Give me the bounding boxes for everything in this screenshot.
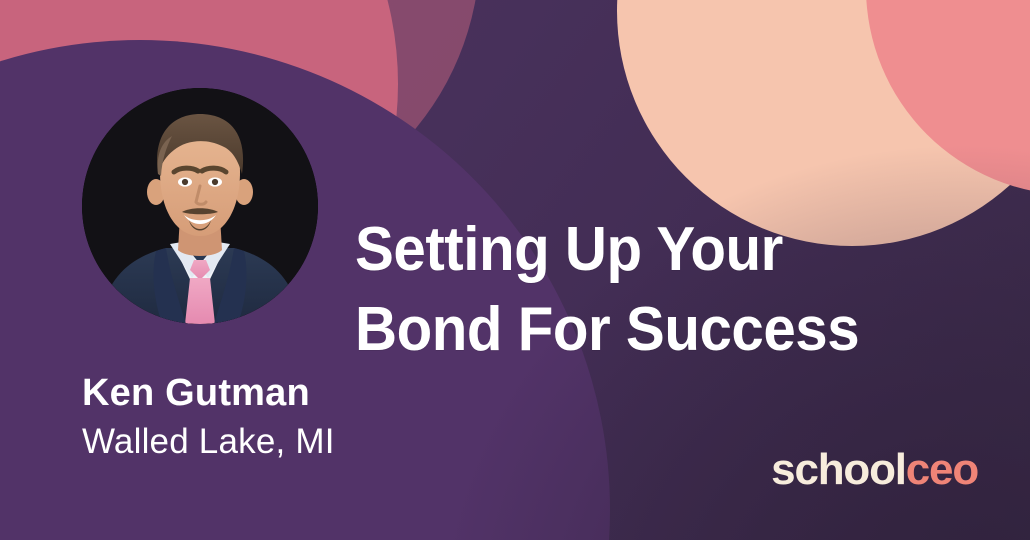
episode-title-line-2: Bond For Success (355, 290, 966, 371)
speaker-block: Ken Gutman Walled Lake, MI (82, 372, 335, 462)
episode-title-line-1: Setting Up Your (355, 210, 966, 291)
episode-cover-card: Setting Up Your Bond For Success Ken Gut… (0, 0, 1030, 540)
schoolceo-logo: schoolceo (771, 448, 978, 492)
logo-text-school: school (771, 445, 906, 494)
episode-title: Setting Up Your Bond For Success (355, 210, 966, 371)
speaker-location: Walled Lake, MI (82, 421, 335, 462)
logo-text-ceo: ceo (906, 445, 978, 494)
speaker-portrait (82, 88, 318, 324)
speaker-name: Ken Gutman (82, 372, 335, 415)
